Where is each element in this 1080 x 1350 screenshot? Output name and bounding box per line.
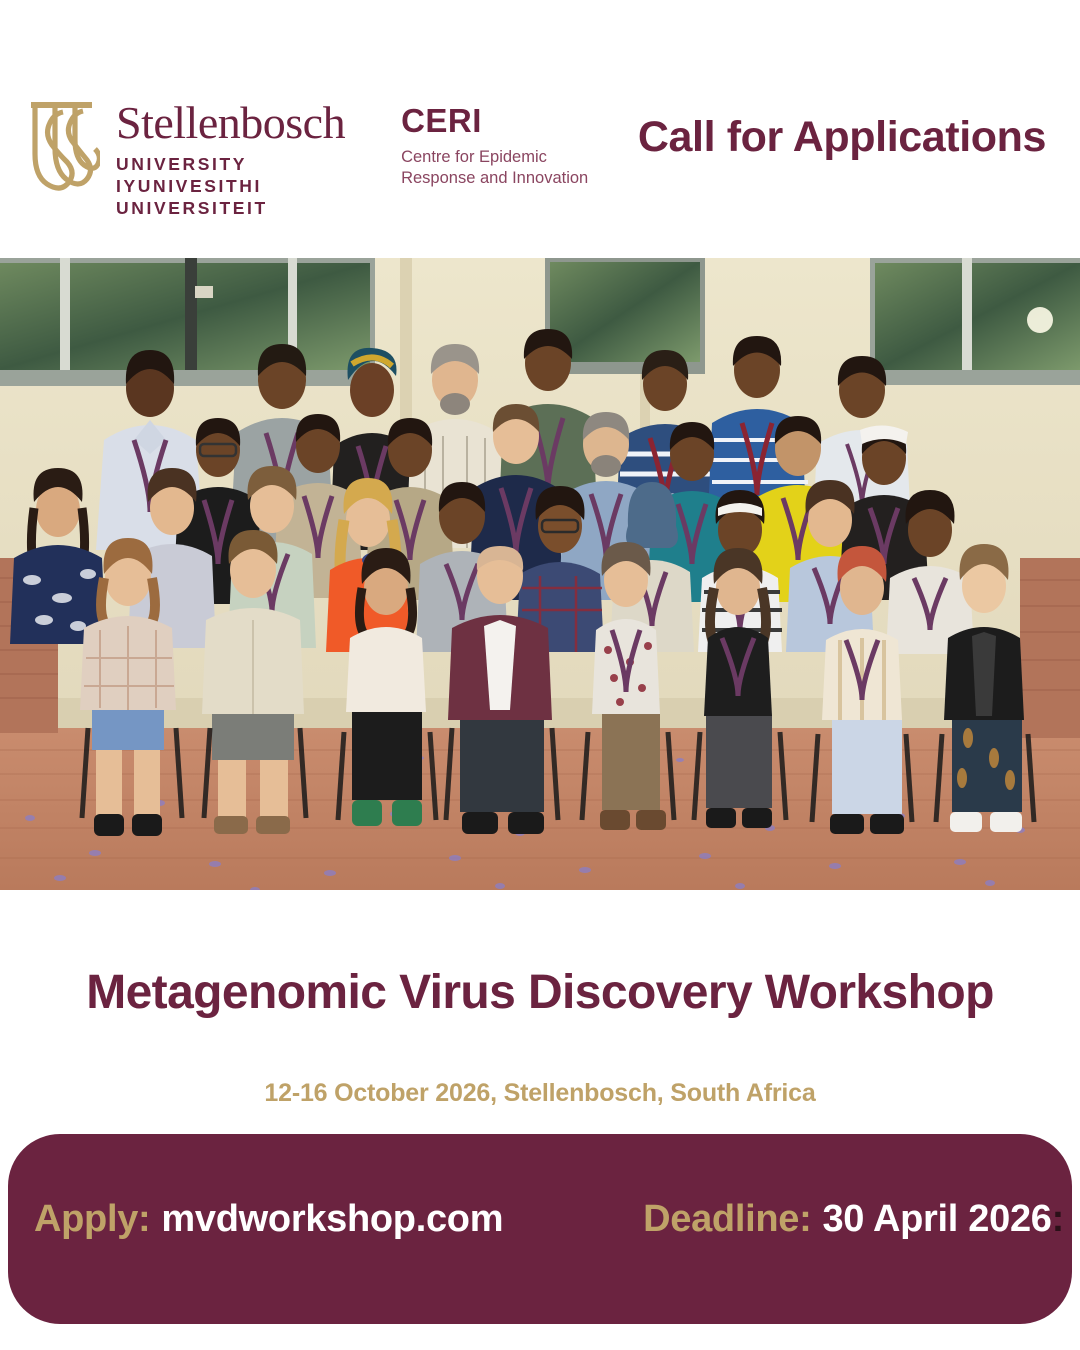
university-descriptor-en: UNIVERSITY [116,153,345,175]
university-name: Stellenbosch [116,100,345,146]
group-photo-illustration [0,258,1080,890]
poster-header: Stellenbosch UNIVERSITY IYUNIVESITHI UNI… [0,0,1080,258]
ceri-acronym: CERI [401,104,588,138]
deadline-group: Deadline: 30 April 2026 : [643,1196,1064,1242]
ceri-full-name-line-1: Centre for Epidemic [401,147,588,168]
stellenbosch-flame-mark-icon [22,96,100,204]
ceri-logo: CERI Centre for Epidemic Response and In… [401,96,588,189]
group-photo [0,258,1080,890]
logo-row: Stellenbosch UNIVERSITY IYUNIVESITHI UNI… [22,96,588,219]
apply-banner: Apply: mvdworkshop.com Deadline: 30 Apri… [8,1134,1072,1324]
apply-label: Apply: [34,1196,150,1242]
stellenbosch-wordmark: Stellenbosch UNIVERSITY IYUNIVESITHI UNI… [116,96,345,219]
title-block: Metagenomic Virus Discovery Workshop 12-… [0,890,1080,1135]
apply-url[interactable]: mvdworkshop.com [161,1196,503,1242]
ceri-full-name-line-2: Response and Innovation [401,168,588,189]
ceri-full-name: Centre for Epidemic Response and Innovat… [401,147,588,189]
workshop-date-location: 12-16 October 2026, Stellenbosch, South … [0,1077,1080,1109]
call-for-applications-heading: Call for Applications [638,111,1046,163]
university-descriptor-xh: IYUNIVESITHI [116,175,345,197]
workshop-title: Metagenomic Virus Discovery Workshop [0,964,1080,1022]
apply-group[interactable]: Apply: mvdworkshop.com [34,1196,503,1242]
poster-root: Stellenbosch UNIVERSITY IYUNIVESITHI UNI… [0,0,1080,1350]
banner-content: Apply: mvdworkshop.com Deadline: 30 Apri… [8,1196,1072,1256]
deadline-label: Deadline: [643,1196,811,1242]
deadline-date: 30 April 2026 [822,1196,1051,1242]
deadline-trailing-colon: : [1052,1196,1064,1242]
university-descriptor-af: UNIVERSITEIT [116,197,345,219]
university-descriptor: UNIVERSITY IYUNIVESITHI UNIVERSITEIT [116,153,345,219]
